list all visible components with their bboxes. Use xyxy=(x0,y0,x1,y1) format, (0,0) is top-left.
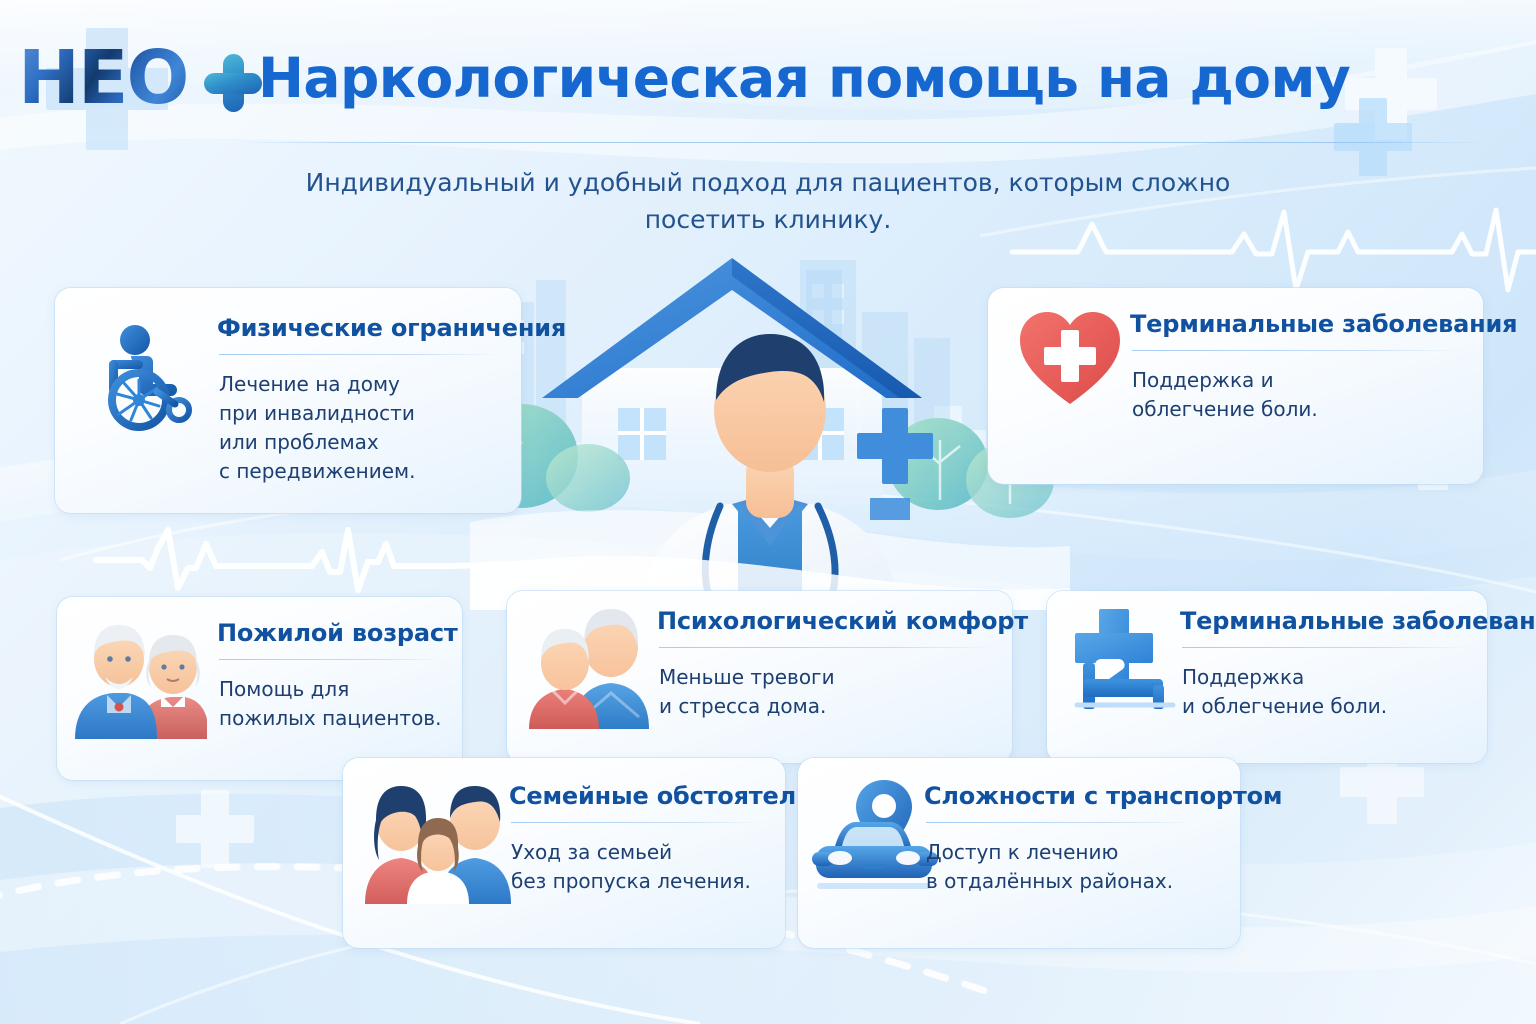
card-physical-limitations[interactable]: Физические ограничения Лечение на дому п… xyxy=(55,288,521,513)
card-body: Помощь для пожилых пациентов. xyxy=(219,675,449,733)
card-body: Поддержка и облегчение боли. xyxy=(1132,366,1452,424)
card-body: Поддержка и облегчение боли. xyxy=(1182,663,1472,721)
card-divider xyxy=(511,822,761,823)
card-terminal-illness-heart[interactable]: Терминальные заболевания Поддержка и обл… xyxy=(988,288,1483,484)
card-terminal-illness-bed[interactable]: Терминальные заболевания Поддержка и обл… xyxy=(1047,591,1487,763)
two-people-icon xyxy=(527,601,651,729)
card-divider xyxy=(926,822,1192,823)
card-title: Терминальные заболевания xyxy=(1180,607,1536,635)
card-body: Уход за семьей без пропуска лечения. xyxy=(511,838,761,896)
card-transport-difficulty[interactable]: Сложности с транспортом Доступ к лечению… xyxy=(798,758,1240,948)
card-divider xyxy=(659,647,997,648)
card-body: Доступ к лечению в отдалённых районах. xyxy=(926,838,1206,896)
card-title: Сложности с транспортом xyxy=(924,782,1282,810)
card-divider xyxy=(219,659,441,660)
family-icon xyxy=(363,772,513,904)
brand-logo[interactable]: НЕО xyxy=(18,38,266,118)
card-psychological-comfort[interactable]: Психологический комфорт Меньше тревоги и… xyxy=(507,591,1012,763)
card-title: Физические ограничения xyxy=(217,314,566,342)
card-divider xyxy=(1132,350,1462,351)
card-title: Терминальные заболевания xyxy=(1130,310,1517,338)
page-title: Наркологическая помощь на дому xyxy=(258,46,1350,110)
header: НЕО Наркологическая помощь на дому Индив… xyxy=(0,0,1536,240)
plus-icon xyxy=(204,54,262,112)
logo-wordmark: НЕО xyxy=(18,38,187,118)
hospital-bed-cross-icon xyxy=(1069,605,1187,717)
infographic-canvas: НЕО Наркологическая помощь на дому Индив… xyxy=(0,0,1536,1024)
card-elderly-age[interactable]: Пожилой возраст Помощь для пожилых пацие… xyxy=(57,597,462,780)
card-family-circumstances[interactable]: Семейные обстоятельства Уход за семьей б… xyxy=(343,758,785,948)
page-subtitle: Индивидуальный и удобный подход для паци… xyxy=(268,164,1268,238)
card-title: Психологический комфорт xyxy=(657,607,1028,635)
title-divider xyxy=(238,142,1488,143)
card-divider xyxy=(219,354,499,355)
background-cross-icon xyxy=(176,790,254,868)
card-divider xyxy=(1182,647,1468,648)
card-body: Лечение на дому при инвалидности или про… xyxy=(219,370,479,486)
heart-cross-icon xyxy=(1016,306,1124,410)
car-location-pin-icon xyxy=(810,776,940,902)
card-body: Меньше тревоги и стресса дома. xyxy=(659,663,989,721)
elderly-couple-icon xyxy=(75,611,207,739)
card-title: Пожилой возраст xyxy=(217,619,458,647)
ecg-line-left xyxy=(96,530,520,590)
car-shape xyxy=(812,822,938,886)
wheelchair-icon xyxy=(87,314,205,432)
doctor-at-home-illustration xyxy=(470,250,1070,610)
